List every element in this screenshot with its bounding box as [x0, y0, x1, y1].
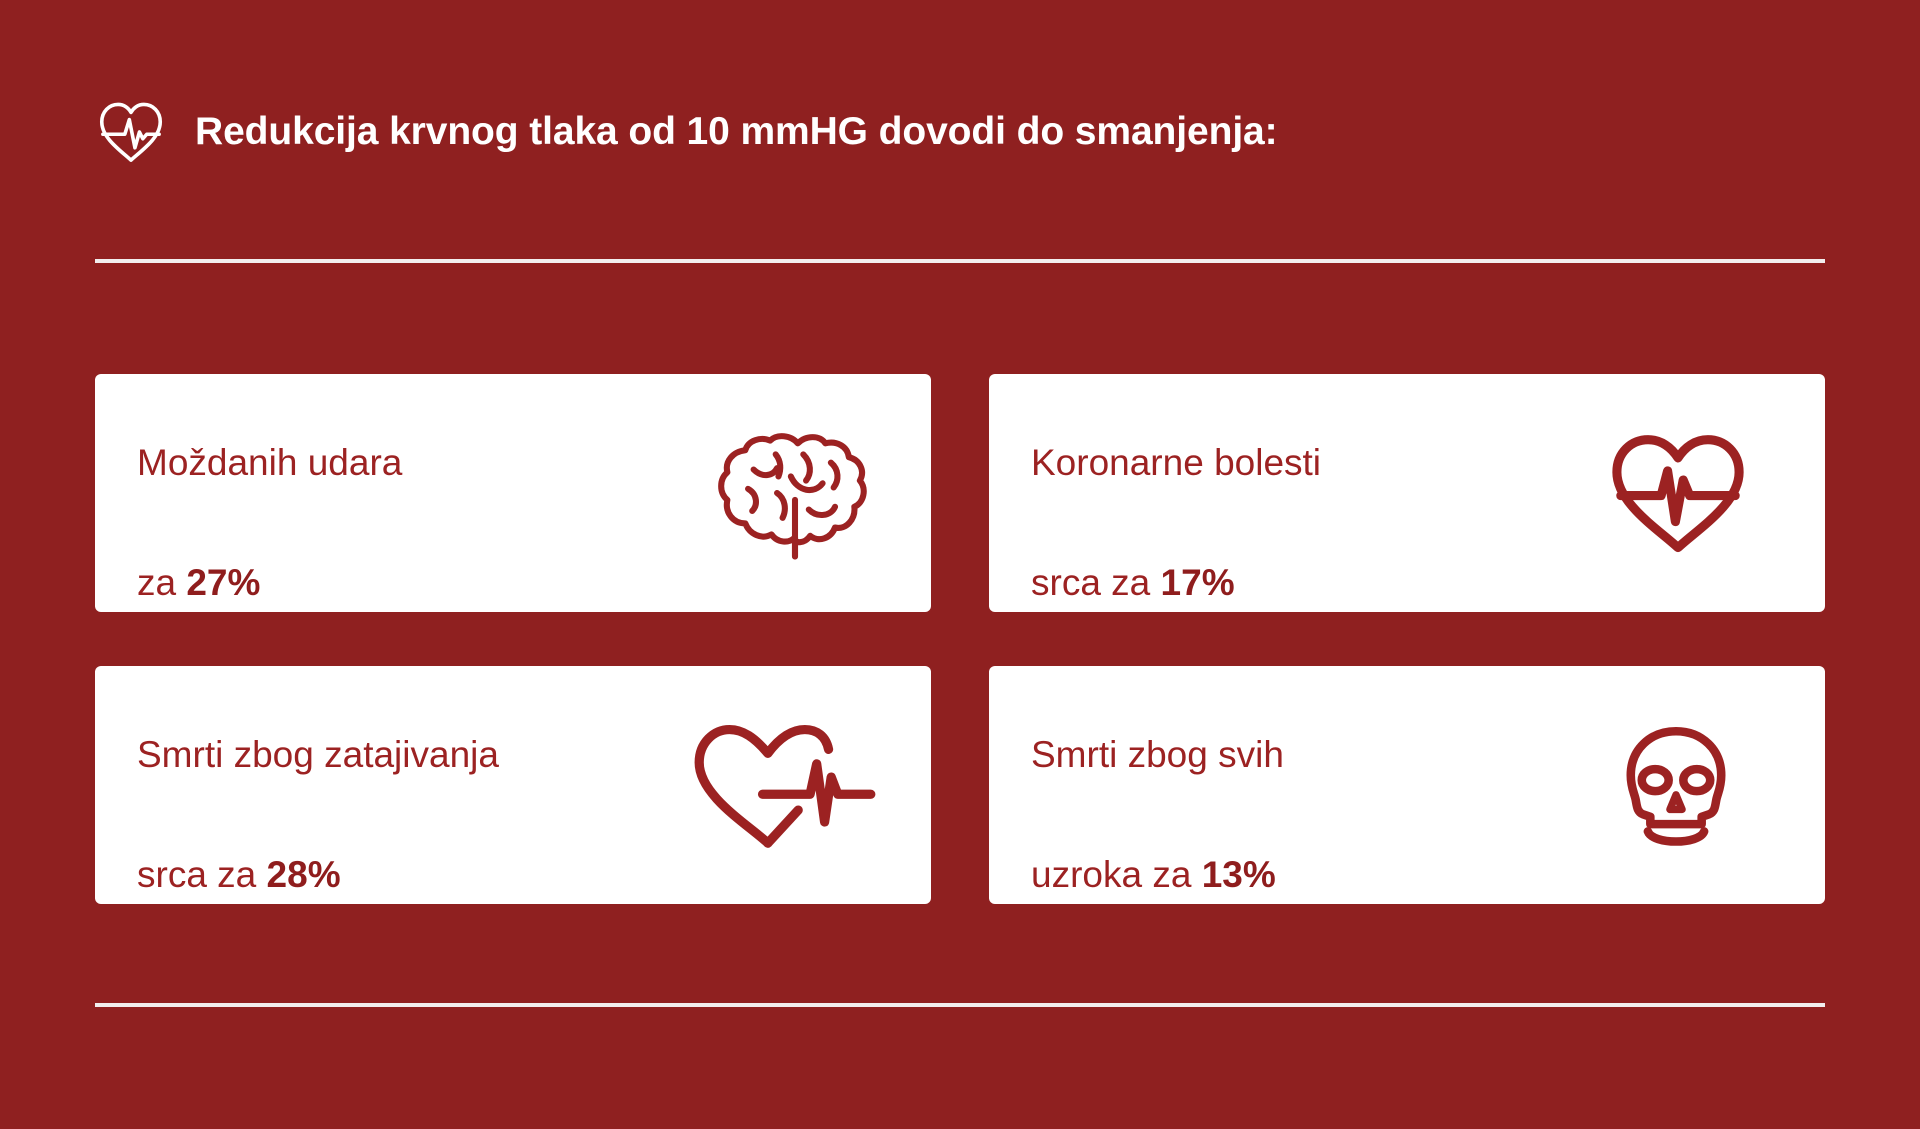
heart-pulse-line-icon — [685, 719, 885, 851]
infographic-slide: Redukcija krvnog tlaka od 10 mmHG dovodi… — [0, 0, 1920, 1129]
stats-grid: Moždanih udara za 27% Koronarne bolesti … — [95, 374, 1825, 904]
stat-card-all-cause[interactable]: Smrti zbog svih uzroka za 13% — [989, 666, 1825, 904]
stat-value: 28% — [267, 854, 341, 895]
stat-card-text: Smrti zbog zatajivanja srca za 28% — [137, 666, 499, 904]
stat-line-1: Smrti zbog svih — [1031, 734, 1284, 775]
stat-card-text: Koronarne bolesti srca za 17% — [1031, 374, 1321, 612]
page-title: Redukcija krvnog tlaka od 10 mmHG dovodi… — [195, 111, 1278, 154]
stat-card-stroke[interactable]: Moždanih udara za 27% — [95, 374, 931, 612]
stat-line-2-prefix: za — [137, 562, 186, 603]
brain-icon — [711, 424, 879, 562]
stat-card-text: Moždanih udara za 27% — [137, 374, 402, 612]
stat-value: 27% — [186, 562, 260, 603]
stat-card-coronary[interactable]: Koronarne bolesti srca za 17% — [989, 374, 1825, 612]
divider-bottom — [95, 1003, 1825, 1007]
stat-line-1: Koronarne bolesti — [1031, 442, 1321, 483]
stat-value: 13% — [1202, 854, 1276, 895]
stat-card-text: Smrti zbog svih uzroka za 13% — [1031, 666, 1284, 904]
stat-line-1: Moždanih udara — [137, 442, 402, 483]
heart-pulse-icon — [1603, 428, 1753, 558]
stat-line-2-prefix: uzroka za — [1031, 854, 1202, 895]
skull-icon — [1621, 719, 1731, 851]
divider-top — [95, 259, 1825, 263]
header: Redukcija krvnog tlaka od 10 mmHG dovodi… — [95, 96, 1278, 168]
stat-card-heart-failure[interactable]: Smrti zbog zatajivanja srca za 28% — [95, 666, 931, 904]
stat-line-2-prefix: srca za — [137, 854, 267, 895]
stat-line-1: Smrti zbog zatajivanja — [137, 734, 499, 775]
stat-value: 17% — [1161, 562, 1235, 603]
heart-pulse-icon — [95, 96, 167, 168]
stat-line-2-prefix: srca za — [1031, 562, 1161, 603]
